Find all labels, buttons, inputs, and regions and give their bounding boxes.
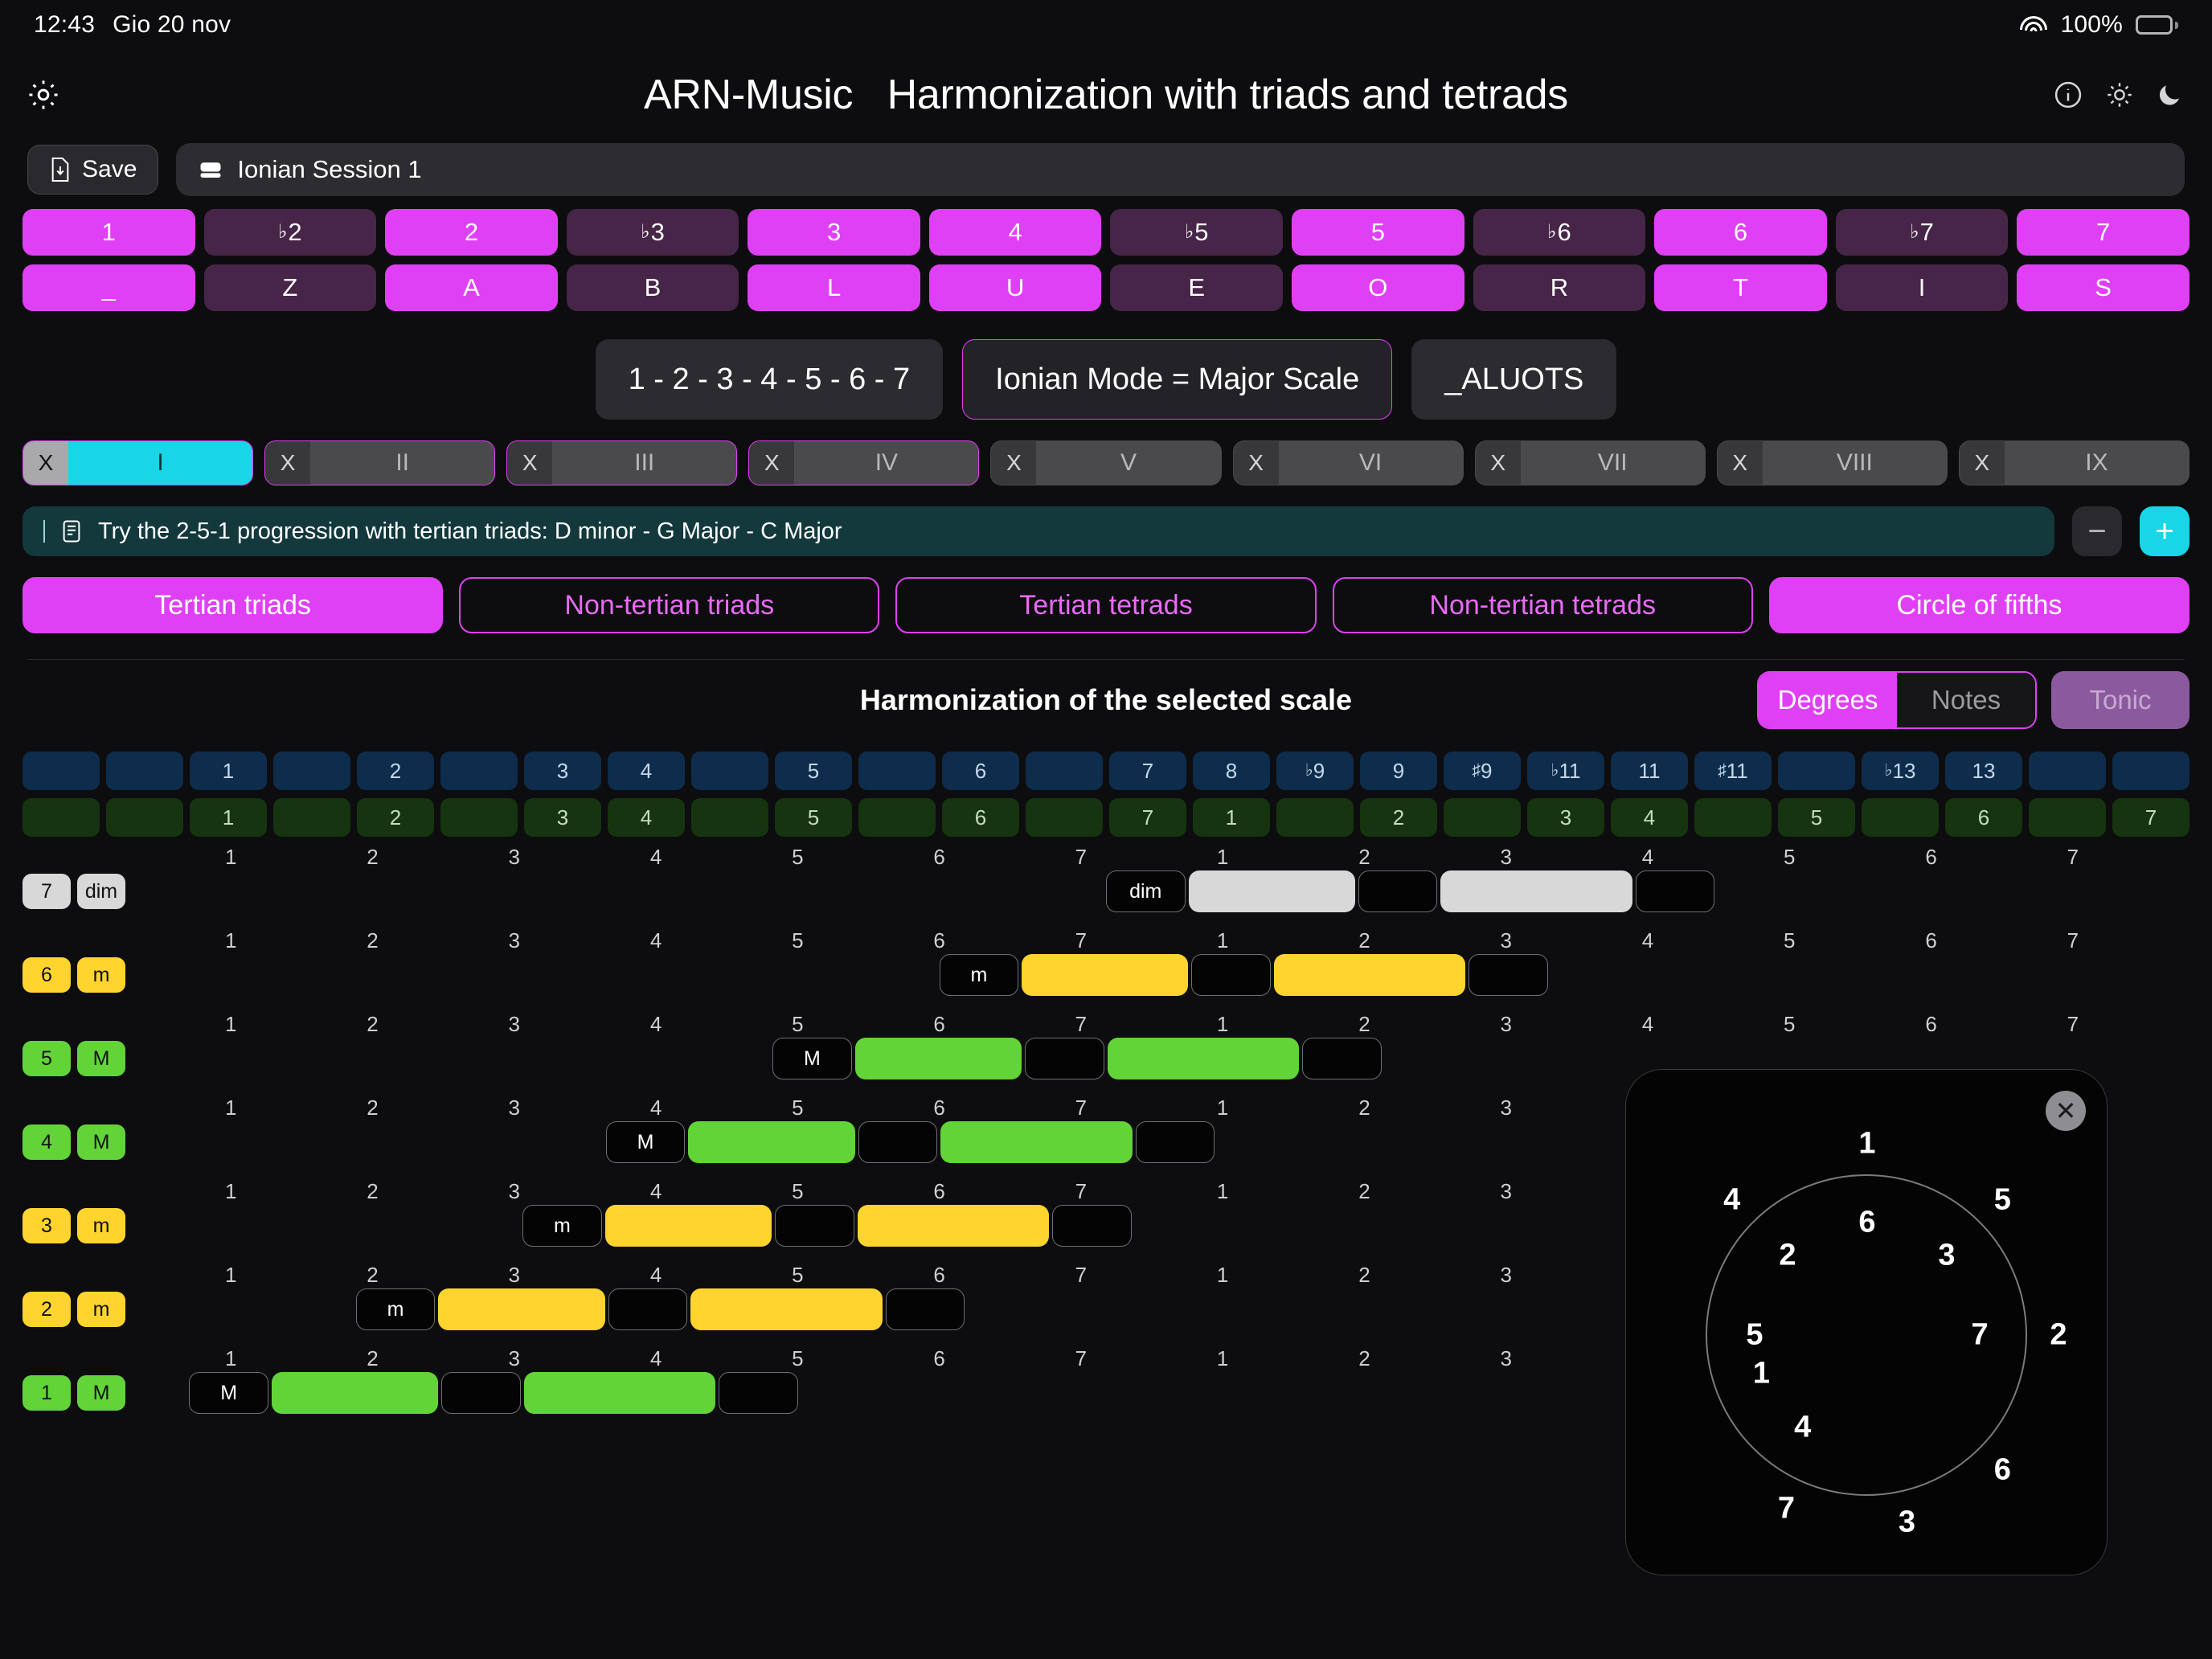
ruler-degree-cell[interactable]: 2 [1360, 798, 1437, 837]
chord-tab-tertian-triads[interactable]: Tertian triads [23, 577, 443, 633]
ruler-degree-cell[interactable] [2029, 798, 2106, 837]
chord-tick: 6 [933, 1096, 944, 1120]
chord-bar[interactable]: M [189, 1372, 801, 1414]
ruler-extension-cell[interactable] [1026, 752, 1103, 790]
chord-tick: 2 [1358, 1263, 1370, 1288]
chord-interval-filled[interactable] [688, 1121, 854, 1163]
chord-tick: 4 [650, 1012, 662, 1037]
chord-tick: 3 [509, 1263, 520, 1288]
chord-tick: 6 [933, 1346, 944, 1371]
chord-tick: 6 [1925, 928, 1936, 953]
save-file-icon [49, 157, 72, 182]
chord-tick: 2 [1358, 928, 1370, 953]
chord-tick: 6 [933, 845, 944, 870]
chord-tick: 1 [1217, 1346, 1228, 1371]
close-icon[interactable]: X [749, 441, 794, 485]
ruler-degree-cell[interactable]: 7 [1109, 798, 1186, 837]
ruler-extension-cell[interactable]: 5 [775, 752, 852, 790]
ruler-degree-cell[interactable]: 1 [190, 798, 267, 837]
circle-inner-number[interactable]: 7 [1971, 1318, 1988, 1353]
progression-slot-label[interactable]: III [552, 441, 736, 485]
ruler-degrees: 12345671234567 [23, 798, 2189, 837]
ruler-extension-cell[interactable]: ♯9 [1444, 752, 1521, 790]
degree-key-6[interactable]: 6 [1654, 209, 1827, 256]
ruler-extension-cell[interactable]: 11 [1611, 752, 1688, 790]
chord-tab-non-tertian-triads[interactable]: Non-tertian triads [459, 577, 879, 633]
chord-tick: 6 [1925, 845, 1936, 870]
progression-slot-VII[interactable]: XVII [1475, 440, 1706, 485]
progression-slot-label[interactable]: IV [794, 441, 978, 485]
chord-type-tabs: Tertian triadsNon-tertian triadsTertian … [0, 556, 2212, 633]
circle-inner-number[interactable]: 1 [1753, 1356, 1770, 1391]
close-icon[interactable]: X [265, 441, 310, 485]
chord-tick: 2 [1358, 1012, 1370, 1037]
chord-interval-empty[interactable] [1358, 870, 1438, 912]
degree-key-flat-2[interactable]: ♭2 [204, 209, 377, 256]
chord-tick: 7 [1075, 1012, 1087, 1037]
chord-tick: 6 [933, 1012, 944, 1037]
battery-percent: 100% [2060, 11, 2123, 39]
app-header: ARN-Music Harmonization with triads and … [0, 50, 2212, 140]
chord-tab-non-tertian-tetrads[interactable]: Non-tertian tetrads [1333, 577, 1753, 633]
chord-interval-filled[interactable] [1189, 870, 1355, 912]
close-icon[interactable]: X [23, 441, 68, 485]
session-toolbar: Save Ionian Session 1 [0, 140, 2212, 196]
chord-tick: 1 [1217, 928, 1228, 953]
chord-tick: 4 [650, 928, 662, 953]
chord-tick: 3 [509, 1346, 520, 1371]
ruler-degree-cell[interactable]: 6 [1945, 798, 2022, 837]
degree-keypad: 1♭22♭334♭55♭66♭77 _ZABLUEORTIS [0, 196, 2212, 311]
chord-tick: 7 [2067, 845, 2079, 870]
chord-interval-filled[interactable] [1022, 954, 1188, 996]
ruler-extension-cell[interactable]: ♭11 [1527, 752, 1604, 790]
disk-icon [199, 158, 223, 181]
ruler-degree-cell[interactable]: 5 [1778, 798, 1855, 837]
chord-tick: 3 [1500, 1346, 1511, 1371]
progression-slot-label[interactable]: II [310, 441, 494, 485]
degree-row: 1♭22♭334♭55♭66♭77 [23, 209, 2189, 256]
chord-interval-filled[interactable] [858, 1205, 1049, 1247]
info-icon[interactable] [2053, 80, 2083, 110]
chord-tick: 3 [509, 845, 520, 870]
session-name-value: Ionian Session 1 [237, 155, 421, 184]
tip-row: Try the 2-5-1 progression with tertian t… [0, 485, 2212, 556]
chord-tick: 6 [933, 1263, 944, 1288]
ruler-extension-cell[interactable]: 8 [1193, 752, 1270, 790]
harmonization-title: Harmonization of the selected scale [860, 683, 1352, 717]
decrement-button[interactable]: − [2072, 506, 2122, 556]
battery-icon [2136, 15, 2178, 35]
progression-slot-III[interactable]: XIII [506, 440, 737, 485]
session-name-input[interactable]: Ionian Session 1 [176, 143, 2185, 196]
ruler-degree-cell[interactable] [1026, 798, 1103, 837]
save-button-label: Save [82, 156, 137, 183]
progression-slot-VIII[interactable]: XVIII [1717, 440, 1948, 485]
chord-tick: 5 [792, 1346, 803, 1371]
chord-tick: 5 [792, 1179, 803, 1204]
status-bar: 12:43 Gio 20 nov 100% [0, 0, 2212, 50]
circle-outer-number[interactable]: 6 [1994, 1453, 2011, 1488]
header-icons [2053, 80, 2183, 110]
letter-row: _ZABLUEORTIS [23, 264, 2189, 311]
chord-tick: 2 [367, 1012, 378, 1037]
moon-icon[interactable] [2156, 81, 2183, 109]
page-title: ARN-Music Harmonization with triads and … [644, 71, 1568, 119]
ruler-degree-cell[interactable] [1276, 798, 1354, 837]
chord-quality-marker[interactable]: M [772, 1038, 852, 1079]
close-icon[interactable]: X [507, 441, 552, 485]
letter-key-S[interactable]: S [2017, 264, 2189, 311]
ruler-degree-cell[interactable]: 3 [1527, 798, 1604, 837]
chord-tick: 2 [367, 1346, 378, 1371]
tip-bar[interactable]: Try the 2-5-1 progression with tertian t… [23, 506, 2054, 556]
chord-tick: 1 [1217, 1263, 1228, 1288]
letter-key-O[interactable]: O [1292, 264, 1464, 311]
circle-of-fifths-panel: ✕ 15263746375214 [1625, 1069, 2108, 1575]
chord-tick: 1 [1217, 1096, 1228, 1120]
chord-interval-empty[interactable] [1052, 1205, 1132, 1247]
chord-tick: 7 [2067, 1012, 2079, 1037]
chord-tick: 3 [509, 1096, 520, 1120]
chord-bar[interactable]: m [356, 1288, 968, 1330]
chord-tick: 2 [1358, 1096, 1370, 1120]
ruler-extension-cell[interactable]: ♭13 [1862, 752, 1939, 790]
chord-quality-marker[interactable]: M [606, 1121, 686, 1163]
chord-interval-filled[interactable] [1440, 870, 1632, 912]
ruler-extension-cell[interactable] [1778, 752, 1855, 790]
letter-key-A[interactable]: A [385, 264, 558, 311]
chord-tick: 7 [1075, 1096, 1087, 1120]
circle-inner-number[interactable]: 3 [1938, 1239, 1955, 1273]
scale-degrees-box[interactable]: 1 - 2 - 3 - 4 - 5 - 6 - 7 [596, 339, 944, 420]
progression-slot-VI[interactable]: XVI [1233, 440, 1464, 485]
ruler-extension-cell[interactable] [23, 752, 100, 790]
ruler-extension-cell[interactable]: 6 [942, 752, 1019, 790]
chord-tick: 4 [650, 1179, 662, 1204]
ruler-degree-cell[interactable] [273, 798, 350, 837]
letter-key-U[interactable]: U [929, 264, 1102, 311]
chord-tick: 5 [1784, 845, 1795, 870]
gear-icon[interactable] [26, 77, 61, 113]
degree-key-flat-3[interactable]: ♭3 [567, 209, 739, 256]
status-left: 12:43 Gio 20 nov [34, 11, 231, 39]
close-icon[interactable]: X [1476, 441, 1521, 485]
chord-tick: 1 [225, 1346, 236, 1371]
chord-interval-filled[interactable] [690, 1288, 882, 1330]
toggle-degrees[interactable]: Degrees [1759, 673, 1897, 727]
chord-tick: 4 [650, 1096, 662, 1120]
ruler-degree-cell[interactable]: 4 [1611, 798, 1688, 837]
ruler-degree-cell[interactable] [1444, 798, 1521, 837]
chord-tick: 3 [1500, 845, 1511, 870]
chord-tick: 5 [792, 845, 803, 870]
chord-interval-filled[interactable] [1108, 1038, 1299, 1079]
chord-bar[interactable]: dim [1106, 870, 1718, 912]
chord-tick: 4 [650, 1346, 662, 1371]
chord-interval-empty[interactable] [1136, 1121, 1215, 1163]
app-root: 12:43 Gio 20 nov 100% ARN-Music Harmoniz… [0, 0, 2212, 1659]
sun-icon[interactable] [2106, 81, 2133, 109]
chord-tick: 7 [1075, 845, 1087, 870]
chord-interval-filled[interactable] [524, 1372, 715, 1414]
chord-tick: 5 [1784, 1012, 1795, 1037]
circle-outer-number[interactable]: 1 [1858, 1127, 1875, 1161]
ruler-extension-cell[interactable]: 3 [524, 752, 601, 790]
chord-tick: 4 [650, 1263, 662, 1288]
scale-letters-box[interactable]: _ALUOTS [1411, 339, 1616, 420]
letter-key-Z[interactable]: Z [204, 264, 377, 311]
chord-tick: 1 [1217, 1179, 1228, 1204]
chord-interval-filled[interactable] [855, 1038, 1022, 1079]
tip-caret [43, 520, 45, 543]
circle-outer-number[interactable]: 7 [1778, 1491, 1795, 1526]
close-icon[interactable]: X [1718, 441, 1763, 485]
save-button[interactable]: Save [27, 145, 158, 195]
ruler-degree-cell[interactable] [440, 798, 518, 837]
degree-key-2[interactable]: 2 [385, 209, 558, 256]
chord-tick: 1 [225, 1096, 236, 1120]
chord-interval-empty[interactable] [1469, 954, 1548, 996]
chord-quality-marker[interactable]: m [522, 1205, 602, 1247]
progression-slots: XIXIIXIIIXIVXVXVIXVIIXVIIIXIX [0, 420, 2212, 485]
chord-tick: 3 [509, 1179, 520, 1204]
chord-tick: 2 [367, 845, 378, 870]
chord-tick: 6 [1925, 1012, 1936, 1037]
ruler-degree-cell[interactable]: 4 [608, 798, 685, 837]
ruler-degree-cell[interactable]: 3 [524, 798, 601, 837]
chord-interval-empty[interactable] [1191, 954, 1271, 996]
ruler-degree-cell[interactable] [691, 798, 768, 837]
progression-slot-I[interactable]: XI [23, 440, 253, 485]
increment-button[interactable]: + [2140, 506, 2189, 556]
chord-tick: 5 [792, 1096, 803, 1120]
tonic-button[interactable]: Tonic [2051, 671, 2189, 729]
chord-interval-filled[interactable] [605, 1205, 772, 1247]
chord-tick: 7 [1075, 928, 1087, 953]
chord-tick: 1 [225, 1179, 236, 1204]
chord-tick: 1 [225, 845, 236, 870]
chord-tick: 5 [792, 1012, 803, 1037]
chord-interval-empty[interactable] [1025, 1038, 1104, 1079]
progression-slot-label[interactable]: VIII [1763, 441, 1947, 485]
degree-key-flat-6[interactable]: ♭6 [1473, 209, 1646, 256]
chord-tick: 7 [1075, 1263, 1087, 1288]
close-icon[interactable]: X [1234, 441, 1279, 485]
ruler-extensions: 12345678♭99♯9♭1111♯11♭1313 [23, 752, 2189, 790]
chord-tick: 3 [1500, 1096, 1511, 1120]
letter-key-R[interactable]: R [1473, 264, 1646, 311]
chord-tick: 4 [1642, 845, 1653, 870]
circle-inner-number[interactable]: 6 [1858, 1206, 1875, 1240]
ruler-degree-cell[interactable]: 6 [942, 798, 1019, 837]
ruler-degree-cell[interactable]: 5 [775, 798, 852, 837]
ruler-degree-cell[interactable] [858, 798, 936, 837]
ruler-extension-cell[interactable] [273, 752, 350, 790]
list-icon [61, 519, 82, 543]
chord-tick: 3 [1500, 1012, 1511, 1037]
ruler-degree-cell[interactable] [23, 798, 100, 837]
wifi-icon [2020, 14, 2047, 35]
progression-slot-IV[interactable]: XIV [748, 440, 979, 485]
chord-row: 7dim12345671234567dim [23, 850, 2189, 933]
chord-tick: 2 [367, 1096, 378, 1120]
ruler-degree-cell[interactable]: 2 [357, 798, 434, 837]
chord-tick: 6 [933, 928, 944, 953]
chord-tick: 5 [1784, 928, 1795, 953]
degree-key-7[interactable]: 7 [2017, 209, 2189, 256]
chord-quality-marker[interactable]: M [189, 1372, 268, 1414]
chord-tick: 2 [1358, 1179, 1370, 1204]
ruler-extension-cell[interactable]: 9 [1360, 752, 1437, 790]
circle-outer-number[interactable]: 4 [1723, 1182, 1740, 1217]
chord-tick: 3 [509, 1012, 520, 1037]
chord-quality-marker[interactable]: m [940, 954, 1019, 996]
chord-interval-filled[interactable] [438, 1288, 604, 1330]
chord-interval-empty[interactable] [886, 1288, 965, 1330]
progression-slot-II[interactable]: XII [264, 440, 495, 485]
chord-interval-empty[interactable] [719, 1372, 798, 1414]
degree-key-flat-7[interactable]: ♭7 [1836, 209, 2009, 256]
chord-tick: 7 [1075, 1346, 1087, 1371]
ruler-extension-cell[interactable] [2112, 752, 2189, 790]
degree-key-flat-5[interactable]: ♭5 [1110, 209, 1283, 256]
circle-inner-number[interactable]: 5 [1746, 1318, 1763, 1353]
harmonization-header: Harmonization of the selected scale Degr… [0, 660, 2212, 740]
chord-interval-empty[interactable] [1636, 870, 1715, 912]
close-icon[interactable]: X [991, 441, 1036, 485]
chord-tick: 1 [1217, 845, 1228, 870]
chord-bar[interactable]: M [606, 1121, 1218, 1163]
ruler-extension-cell[interactable] [691, 752, 768, 790]
chord-bar[interactable]: m [522, 1205, 1134, 1247]
ruler-extension-cell[interactable]: 13 [1945, 752, 2022, 790]
ruler-extension-cell[interactable]: ♯11 [1694, 752, 1772, 790]
progression-slot-label[interactable]: I [68, 441, 252, 485]
chord-interval-empty[interactable] [608, 1288, 688, 1330]
degrees-notes-toggle: Degrees Notes [1757, 671, 2037, 729]
chord-tab-tertian-tetrads[interactable]: Tertian tetrads [895, 577, 1316, 633]
chord-quality-marker[interactable]: dim [1106, 870, 1186, 912]
ruler-extension-cell[interactable] [2029, 752, 2106, 790]
degree-key-3[interactable]: 3 [748, 209, 920, 256]
chord-tick: 1 [1217, 1012, 1228, 1037]
degree-key-1[interactable]: 1 [23, 209, 195, 256]
ruler-degree-cell[interactable]: 1 [1193, 798, 1270, 837]
ruler-extension-cell[interactable]: 7 [1109, 752, 1186, 790]
chord-quality-marker[interactable]: m [356, 1288, 436, 1330]
chord-tick: 5 [792, 928, 803, 953]
circle-outer-number[interactable]: 3 [1899, 1505, 1915, 1539]
ruler-extension-cell[interactable] [858, 752, 936, 790]
harmonization-controls: Degrees Notes Tonic [1757, 671, 2189, 729]
chord-tick: 3 [1500, 928, 1511, 953]
chord-tick: 2 [1358, 845, 1370, 870]
chord-tick: 4 [1642, 1012, 1653, 1037]
ruler-degree-cell[interactable]: 7 [2112, 798, 2189, 837]
progression-slot-label[interactable]: VI [1279, 441, 1463, 485]
chord-interval-empty[interactable] [1302, 1038, 1382, 1079]
ruler-extension-cell[interactable]: 1 [190, 752, 267, 790]
chord-tick: 4 [650, 845, 662, 870]
progression-slot-IX[interactable]: XIX [1959, 440, 2189, 485]
degree-key-4[interactable]: 4 [929, 209, 1102, 256]
chord-tick: 2 [367, 928, 378, 953]
letter-key-B[interactable]: B [567, 264, 739, 311]
chord-interval-filled[interactable] [1274, 954, 1465, 996]
chord-tick: 1 [225, 1012, 236, 1037]
circle-outer-number[interactable]: 5 [1994, 1182, 2011, 1217]
letter-key-T[interactable]: T [1654, 264, 1827, 311]
chord-bar[interactable]: M [772, 1038, 1384, 1079]
letter-key-L[interactable]: L [748, 264, 920, 311]
chord-tick: 5 [792, 1263, 803, 1288]
chord-tick: 2 [367, 1263, 378, 1288]
ruler-extension-cell[interactable]: 2 [357, 752, 434, 790]
ruler-degree-cell[interactable] [1862, 798, 1939, 837]
scale-mode-box[interactable]: Ionian Mode = Major Scale [962, 339, 1392, 420]
chord-tick: 7 [1075, 1179, 1087, 1204]
toggle-notes[interactable]: Notes [1897, 673, 2035, 727]
chord-interval-empty[interactable] [775, 1205, 854, 1247]
chord-tick: 1 [225, 928, 236, 953]
chord-tick: 6 [933, 1179, 944, 1204]
scale-info-bar: 1 - 2 - 3 - 4 - 5 - 6 - 7 Ionian Mode = … [0, 320, 2212, 420]
circle-inner-number[interactable]: 4 [1794, 1410, 1811, 1444]
ruler-degree-cell[interactable] [1694, 798, 1772, 837]
chord-tick: 2 [1358, 1346, 1370, 1371]
chord-tick: 3 [509, 928, 520, 953]
chord-bar[interactable]: m [940, 954, 1551, 996]
ruler-degree-cell[interactable] [106, 798, 183, 837]
chord-interval-filled[interactable] [940, 1121, 1132, 1163]
chord-tick: 3 [1500, 1179, 1511, 1204]
letter-key-I[interactable]: I [1836, 264, 2009, 311]
degree-key-5[interactable]: 5 [1292, 209, 1464, 256]
chord-interval-empty[interactable] [858, 1121, 938, 1163]
chord-tick: 1 [225, 1263, 236, 1288]
circle-inner-number[interactable]: 2 [1779, 1239, 1796, 1273]
chord-tick: 2 [367, 1179, 378, 1204]
status-right: 100% [2020, 11, 2178, 39]
chord-tick: 3 [1500, 1263, 1511, 1288]
progression-slot-V[interactable]: XV [990, 440, 1221, 485]
circle-outer-number[interactable]: 2 [2050, 1318, 2067, 1353]
chord-interval-filled[interactable] [272, 1372, 438, 1414]
status-date: Gio 20 nov [113, 11, 231, 39]
interval-rulers: 12345678♭99♯9♭1111♯11♭1313 1234567123456… [0, 740, 2212, 837]
chord-tab-circle-of-fifths[interactable]: Circle of fifths [1769, 577, 2189, 633]
chord-interval-empty[interactable] [441, 1372, 521, 1414]
ruler-extension-cell[interactable] [106, 752, 183, 790]
close-icon[interactable]: X [1960, 441, 2005, 485]
progression-slot-label[interactable]: IX [2005, 441, 2189, 485]
status-time: 12:43 [34, 11, 95, 39]
ruler-extension-cell[interactable] [440, 752, 518, 790]
chord-row: 6m12345671234567m [23, 933, 2189, 1017]
letter-key-E[interactable]: E [1110, 264, 1283, 311]
close-icon[interactable]: ✕ [2046, 1091, 2086, 1131]
letter-key-_[interactable]: _ [23, 264, 195, 311]
progression-slot-label[interactable]: V [1036, 441, 1220, 485]
tip-text: Try the 2-5-1 progression with tertian t… [98, 518, 842, 545]
chord-tick: 7 [2067, 928, 2079, 953]
ruler-extension-cell[interactable]: ♭9 [1276, 752, 1354, 790]
chord-tick: 4 [1642, 928, 1653, 953]
progression-slot-label[interactable]: VII [1521, 441, 1705, 485]
ruler-extension-cell[interactable]: 4 [608, 752, 685, 790]
